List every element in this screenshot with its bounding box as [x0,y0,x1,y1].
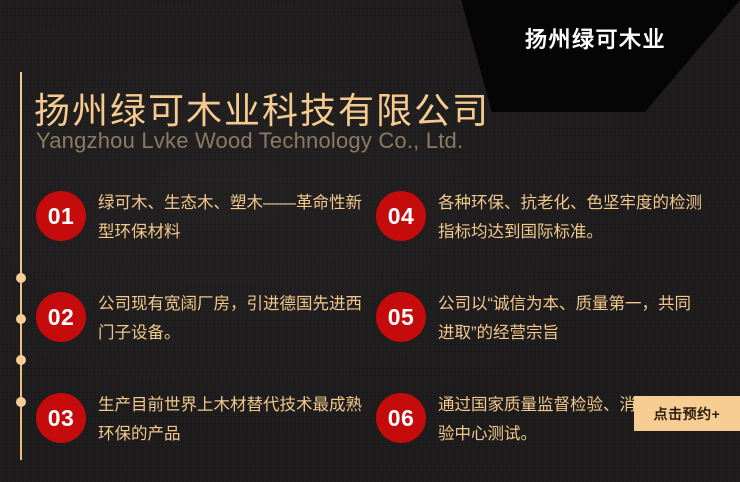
feature-item: 05公司以“诚信为本、质量第一，共同进取”的经营宗旨 [376,287,726,388]
feature-number-badge: 04 [376,191,426,241]
banner-brand-title: 扬州绿可木业 [493,22,698,54]
feature-text: 公司以“诚信为本、质量第一，共同进取”的经营宗旨 [438,287,706,348]
timeline-dot [16,355,26,365]
book-appointment-button[interactable]: 点击预约+ [634,396,740,431]
feature-text: 生产目前世界上木材替代技术最成熟环保的产品 [98,388,366,449]
feature-list: 01绿可木、生态木、塑木——革命性新型环保材料04各种环保、抗老化、色坚牢度的检… [36,186,726,482]
promo-banner-page: 扬州绿可木业 扬州绿可木业科技有限公司 Yangzhou Lvke Wood T… [0,0,740,482]
feature-number-badge: 06 [376,393,426,443]
feature-text: 公司现有宽阔厂房，引进德国先进西门子设备。 [98,287,366,348]
feature-number-badge: 01 [36,191,86,241]
feature-item: 01绿可木、生态木、塑木——革命性新型环保材料 [36,186,376,287]
company-name-chinese: 扬州绿可木业科技有限公司 [34,82,490,134]
timeline-dot [16,397,26,407]
company-name-english: Yangzhou Lvke Wood Technology Co., Ltd. [36,128,463,154]
timeline-dot [16,273,26,283]
feature-number-badge: 05 [376,292,426,342]
feature-number-badge: 02 [36,292,86,342]
feature-text: 各种环保、抗老化、色坚牢度的检测指标均达到国际标准。 [438,186,706,247]
timeline-dot [16,314,26,324]
feature-item: 03生产目前世界上木材替代技术最成熟环保的产品 [36,388,376,482]
feature-number-badge: 03 [36,393,86,443]
feature-item: 02公司现有宽阔厂房，引进德国先进西门子设备。 [36,287,376,388]
feature-item: 04各种环保、抗老化、色坚牢度的检测指标均达到国际标准。 [376,186,726,287]
feature-text: 绿可木、生态木、塑木——革命性新型环保材料 [98,186,366,247]
